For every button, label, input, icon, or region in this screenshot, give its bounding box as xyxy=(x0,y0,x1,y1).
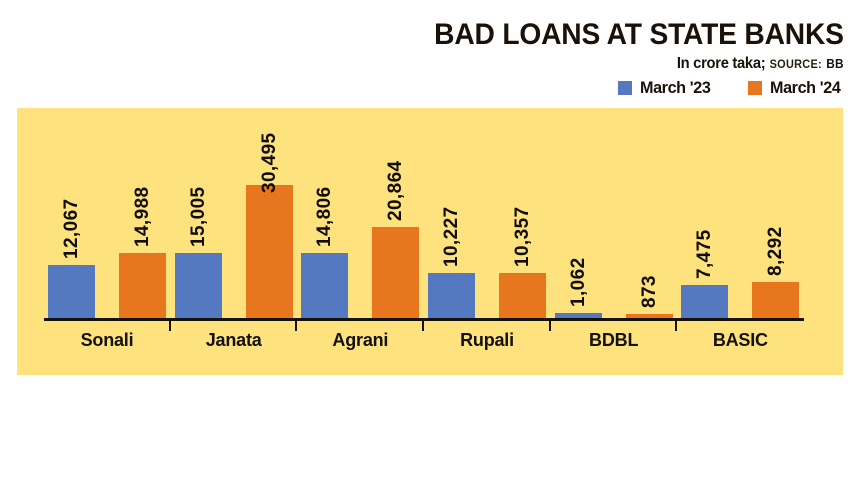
category-label-bdbl: BDBL xyxy=(555,330,673,351)
plot-area: 12,06714,988Sonali15,00530,495Janata14,8… xyxy=(44,130,804,321)
bar-sonali-march-24 xyxy=(119,253,166,318)
category-label-rupali: Rupali xyxy=(428,330,546,351)
bar-value-label: 7,475 xyxy=(695,230,714,280)
x-axis-tick xyxy=(295,321,297,331)
bar-group: 12,06714,988 xyxy=(48,130,166,318)
chart-header: BAD LOANS AT STATE BANKS In crore taka; … xyxy=(408,20,844,98)
source-value: BB xyxy=(826,57,844,71)
legend-swatch-march-24 xyxy=(748,81,762,95)
bar-agrani-march-23 xyxy=(301,253,348,318)
legend-label: March '23 xyxy=(640,78,710,98)
bar-value-label: 1,062 xyxy=(569,258,588,308)
legend-item-march-24: March '24 xyxy=(748,78,844,98)
page-title: BAD LOANS AT STATE BANKS xyxy=(434,20,844,50)
category-label-agrani: Agrani xyxy=(301,330,419,351)
bar-value-label: 873 xyxy=(640,275,659,308)
bar-bdbl-march-23 xyxy=(555,313,602,318)
bar-value-label: 14,988 xyxy=(133,186,152,247)
bar-sonali-march-23 xyxy=(48,265,95,318)
bar-value-label: 12,067 xyxy=(62,199,81,260)
category-label-janata: Janata xyxy=(175,330,293,351)
bar-value-label: 14,806 xyxy=(315,187,334,248)
bar-basic-march-23 xyxy=(681,285,728,318)
x-axis-line xyxy=(44,318,804,321)
bar-group: 14,80620,864 xyxy=(301,130,419,318)
chart-legend: March '23March '24 xyxy=(408,78,844,98)
x-axis-tick xyxy=(549,321,551,331)
bar-group: 15,00530,495 xyxy=(175,130,293,318)
bar-janata-march-24 xyxy=(246,185,293,318)
bar-bdbl-march-24 xyxy=(626,314,673,318)
bar-value-label: 15,005 xyxy=(189,186,208,247)
x-axis-tick xyxy=(422,321,424,331)
bar-value-label: 20,864 xyxy=(386,161,405,222)
legend-label: March '24 xyxy=(770,78,840,98)
bar-agrani-march-24 xyxy=(372,227,419,318)
bar-basic-march-24 xyxy=(752,282,799,318)
bar-rupali-march-23 xyxy=(428,273,475,318)
bar-value-label: 30,495 xyxy=(260,132,279,193)
legend-swatch-march-23 xyxy=(618,81,632,95)
chart-figure: BAD LOANS AT STATE BANKS In crore taka; … xyxy=(0,0,860,484)
bar-value-label: 8,292 xyxy=(766,226,785,276)
legend-item-march-23: March '23 xyxy=(618,78,714,98)
source-label: SOURCE: xyxy=(770,59,822,71)
bar-group: 1,062873 xyxy=(555,130,673,318)
category-label-basic: BASIC xyxy=(681,330,799,351)
units-label: In crore taka; xyxy=(677,55,765,72)
category-label-sonali: Sonali xyxy=(48,330,166,351)
bar-rupali-march-24 xyxy=(499,273,546,318)
bar-janata-march-23 xyxy=(175,253,222,318)
bar-group: 10,22710,357 xyxy=(428,130,546,318)
bar-value-label: 10,357 xyxy=(513,206,532,267)
bar-group: 7,4758,292 xyxy=(681,130,799,318)
bar-value-label: 10,227 xyxy=(442,207,461,268)
x-axis-tick xyxy=(169,321,171,331)
subtitle-line: In crore taka; SOURCE: BB xyxy=(430,55,844,73)
x-axis-tick xyxy=(675,321,677,331)
